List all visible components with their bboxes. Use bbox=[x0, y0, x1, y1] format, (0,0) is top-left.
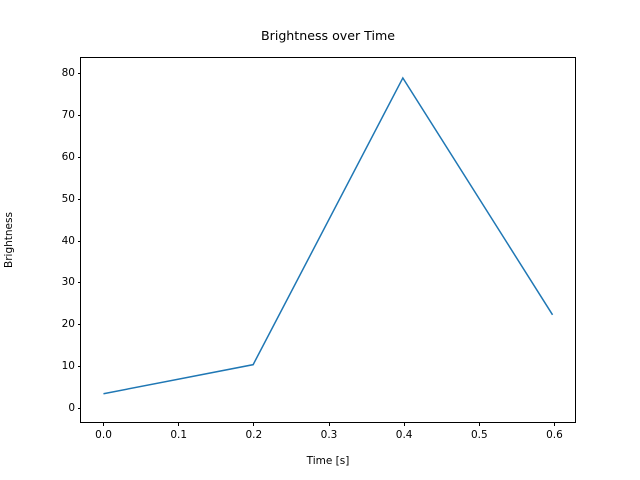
y-axis-tick-mark bbox=[78, 199, 82, 200]
y-axis-tick-mark bbox=[78, 241, 82, 242]
y-axis-tick-mark bbox=[78, 157, 82, 158]
x-axis-tick-label: 0.6 bbox=[546, 428, 563, 442]
x-axis-label: Time [s] bbox=[80, 455, 576, 467]
y-axis-tick-label: 0 bbox=[68, 401, 75, 416]
y-axis-tick-mark bbox=[78, 324, 82, 325]
x-axis-tick-mark bbox=[103, 422, 104, 426]
plot-area: 010203040506070800.00.10.20.30.40.50.6 bbox=[80, 57, 576, 423]
y-axis-tick-label: 20 bbox=[62, 317, 75, 332]
page-title: Brightness over Time bbox=[80, 28, 576, 43]
y-axis-tick-mark bbox=[78, 282, 82, 283]
x-axis-tick-label: 0.1 bbox=[170, 428, 187, 442]
x-axis-tick-label: 0.3 bbox=[321, 428, 338, 442]
y-axis-tick-label: 40 bbox=[62, 234, 75, 249]
y-axis-tick-label: 70 bbox=[62, 108, 75, 123]
y-axis-tick-label: 10 bbox=[62, 359, 75, 374]
chart-figure: Brightness over Time Brightness 01020304… bbox=[0, 0, 640, 480]
y-axis-tick-label: 30 bbox=[62, 275, 75, 290]
x-axis-tick-mark bbox=[554, 422, 555, 426]
x-axis-tick-label: 0.5 bbox=[471, 428, 488, 442]
y-axis-label-text: Brightness bbox=[3, 212, 15, 268]
y-axis-tick-mark bbox=[78, 73, 82, 74]
y-axis-tick-mark bbox=[78, 115, 82, 116]
y-axis-tick-mark bbox=[78, 408, 82, 409]
y-axis-label: Brightness bbox=[0, 57, 18, 423]
line-series-brightness bbox=[103, 78, 552, 394]
y-axis-tick-label: 80 bbox=[62, 66, 75, 81]
x-axis-tick-mark bbox=[329, 422, 330, 426]
y-axis-tick-label: 50 bbox=[62, 192, 75, 207]
y-axis-tick-label: 60 bbox=[62, 150, 75, 165]
x-axis-tick-mark bbox=[404, 422, 405, 426]
x-axis-tick-label: 0.4 bbox=[396, 428, 413, 442]
x-axis-tick-mark bbox=[253, 422, 254, 426]
y-axis-tick-mark bbox=[78, 366, 82, 367]
line-series-layer bbox=[81, 58, 575, 422]
x-axis-tick-label: 0.2 bbox=[245, 428, 262, 442]
x-axis-tick-mark bbox=[479, 422, 480, 426]
x-axis-tick-label: 0.0 bbox=[95, 428, 112, 442]
x-axis-tick-mark bbox=[178, 422, 179, 426]
